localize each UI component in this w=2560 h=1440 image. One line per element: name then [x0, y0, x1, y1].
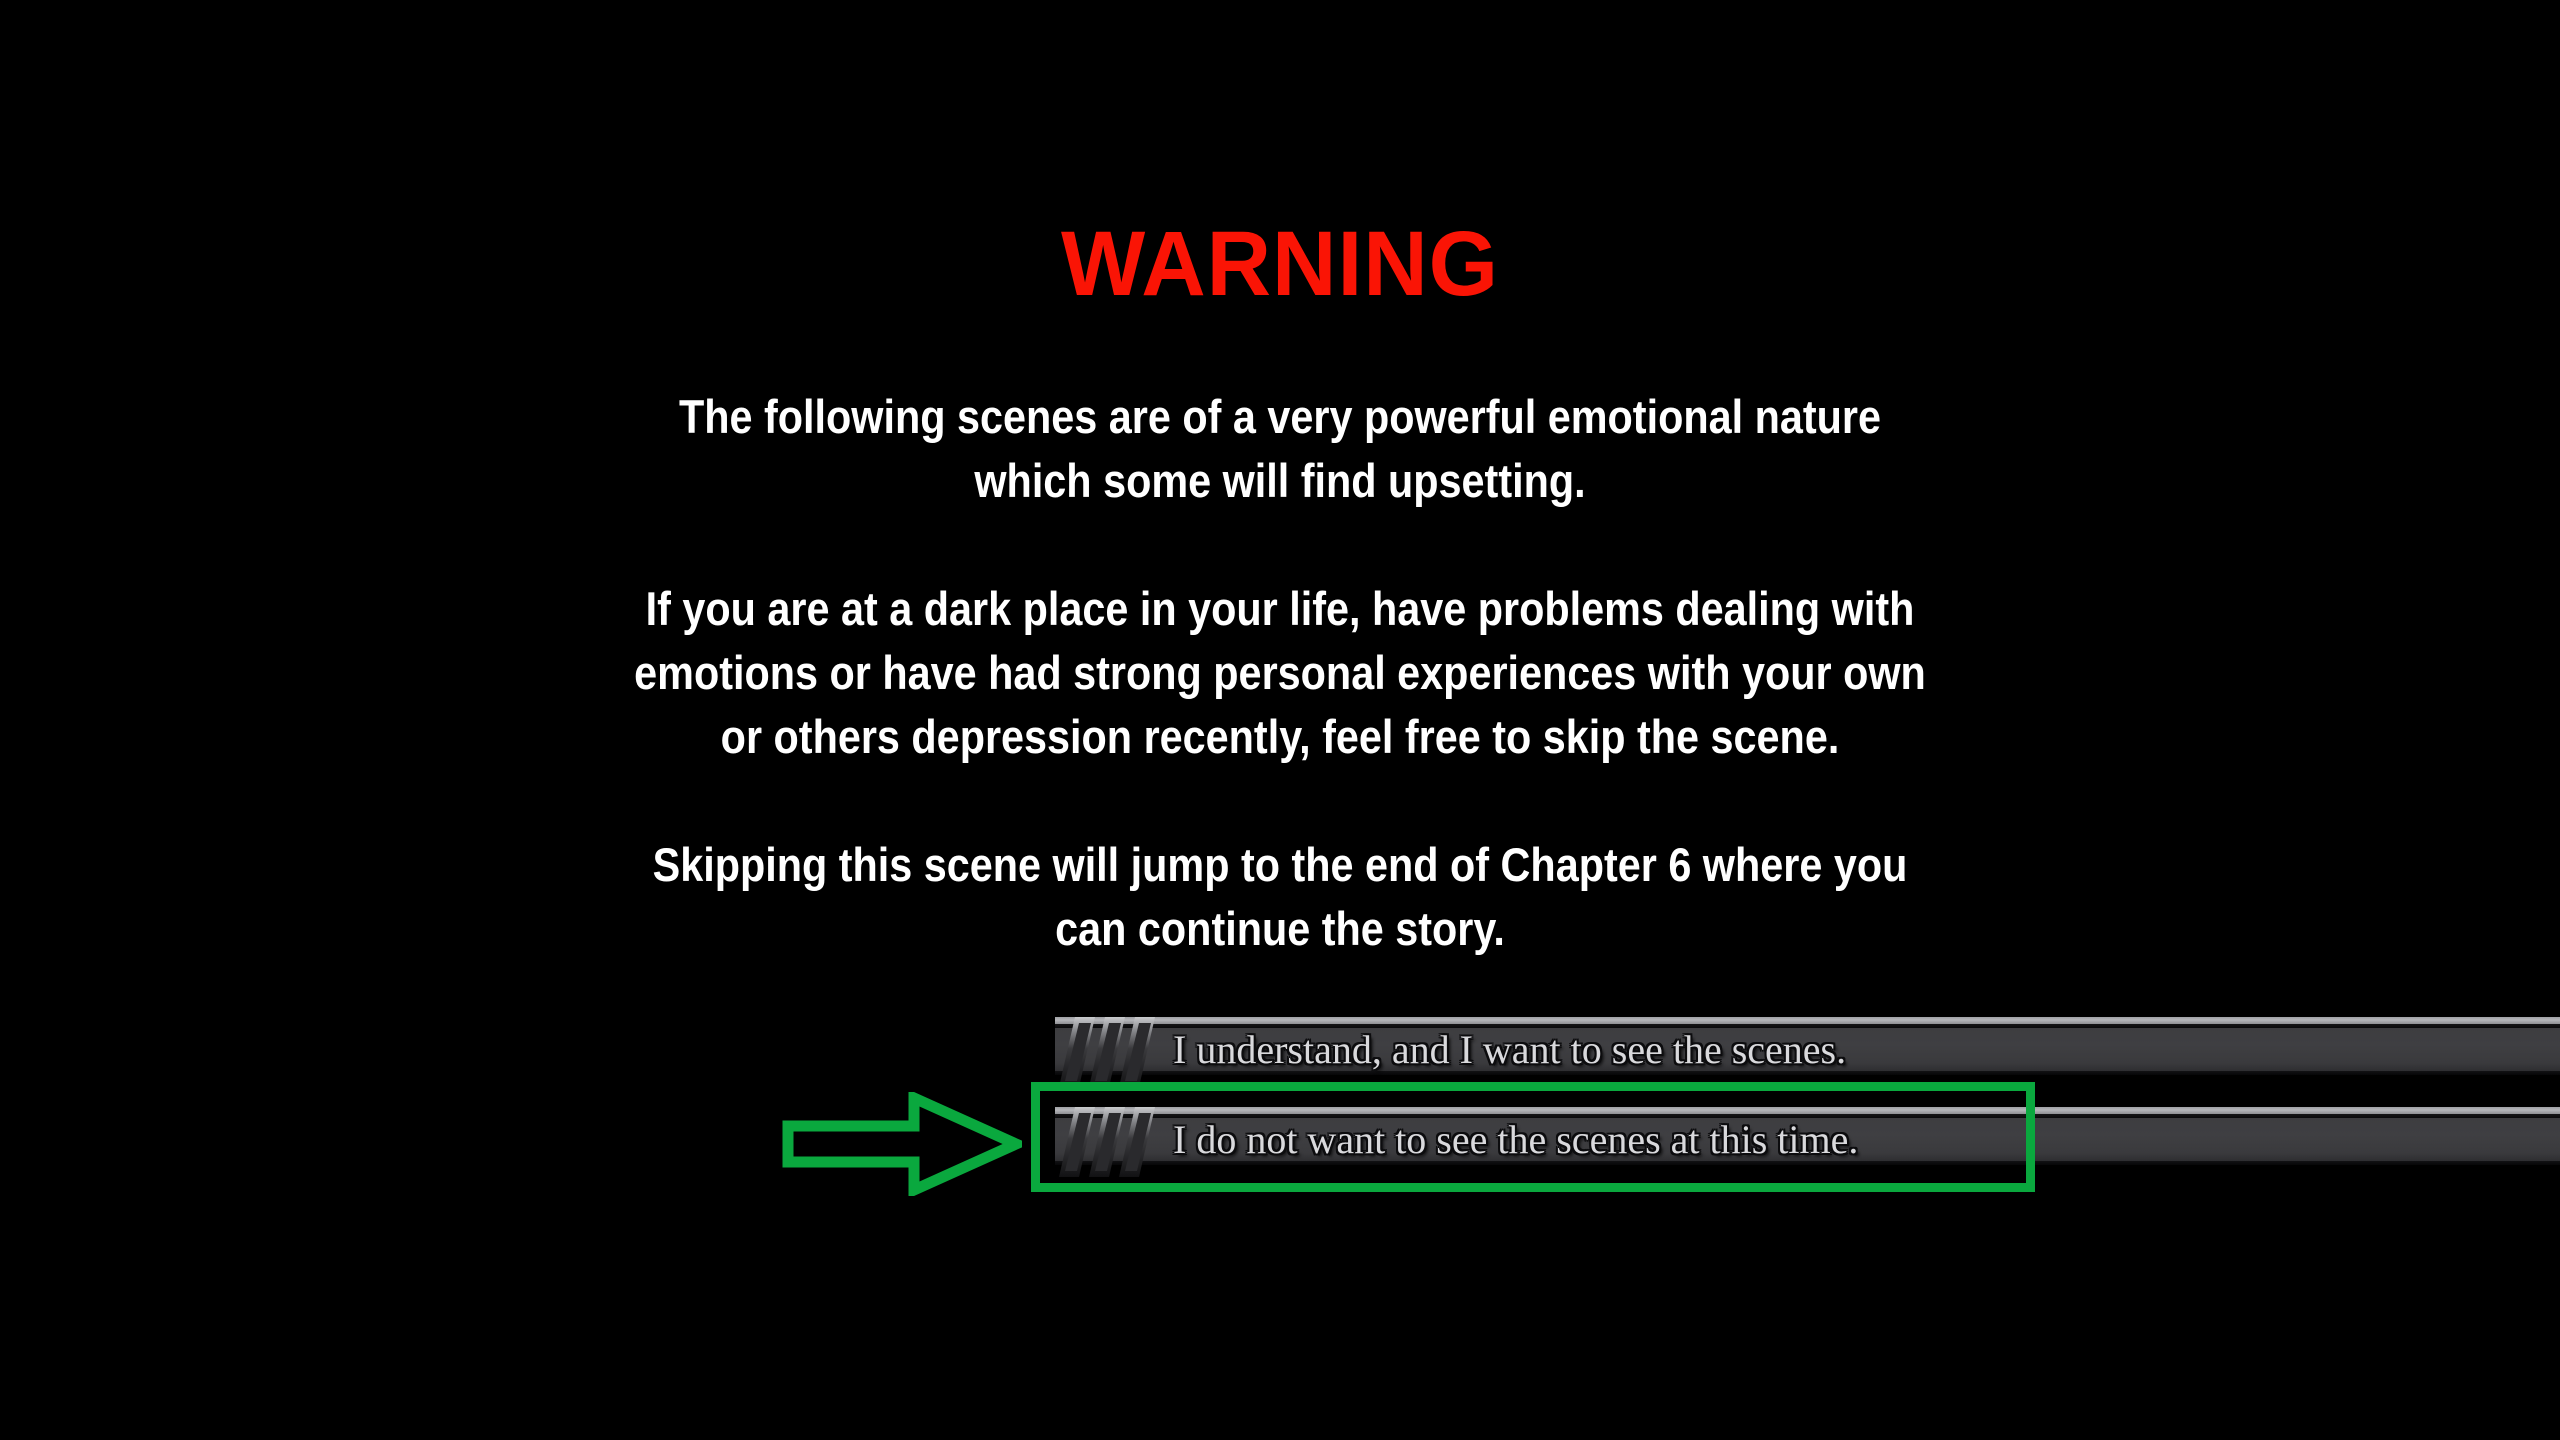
paragraph-line: can continue the story.: [154, 897, 2407, 961]
paragraph-line: emotions or have had strong personal exp…: [154, 641, 2407, 705]
paragraph-spacer: [0, 769, 2560, 833]
paragraph-1: The following scenes are of a very power…: [154, 385, 2407, 513]
paragraph-3: Skipping this scene will jump to the end…: [154, 833, 2407, 961]
warning-screen: WARNING The following scenes are of a ve…: [0, 0, 2560, 1440]
paragraph-2: If you are at a dark place in your life,…: [154, 577, 2407, 769]
warning-body-text: The following scenes are of a very power…: [0, 385, 2560, 961]
paragraph-spacer: [0, 513, 2560, 577]
page-title: WARNING: [38, 218, 2521, 310]
paragraph-line: The following scenes are of a very power…: [154, 385, 2407, 449]
arrow-right-icon: [782, 1092, 1022, 1196]
menu-option-label: I understand, and I want to see the scen…: [1173, 1028, 1846, 1072]
annotation-highlight-box: [1031, 1082, 2035, 1192]
paragraph-line: which some will find upsetting.: [154, 449, 2407, 513]
paragraph-line: If you are at a dark place in your life,…: [154, 577, 2407, 641]
paragraph-line: or others depression recently, feel free…: [154, 705, 2407, 769]
paragraph-line: Skipping this scene will jump to the end…: [154, 833, 2407, 897]
